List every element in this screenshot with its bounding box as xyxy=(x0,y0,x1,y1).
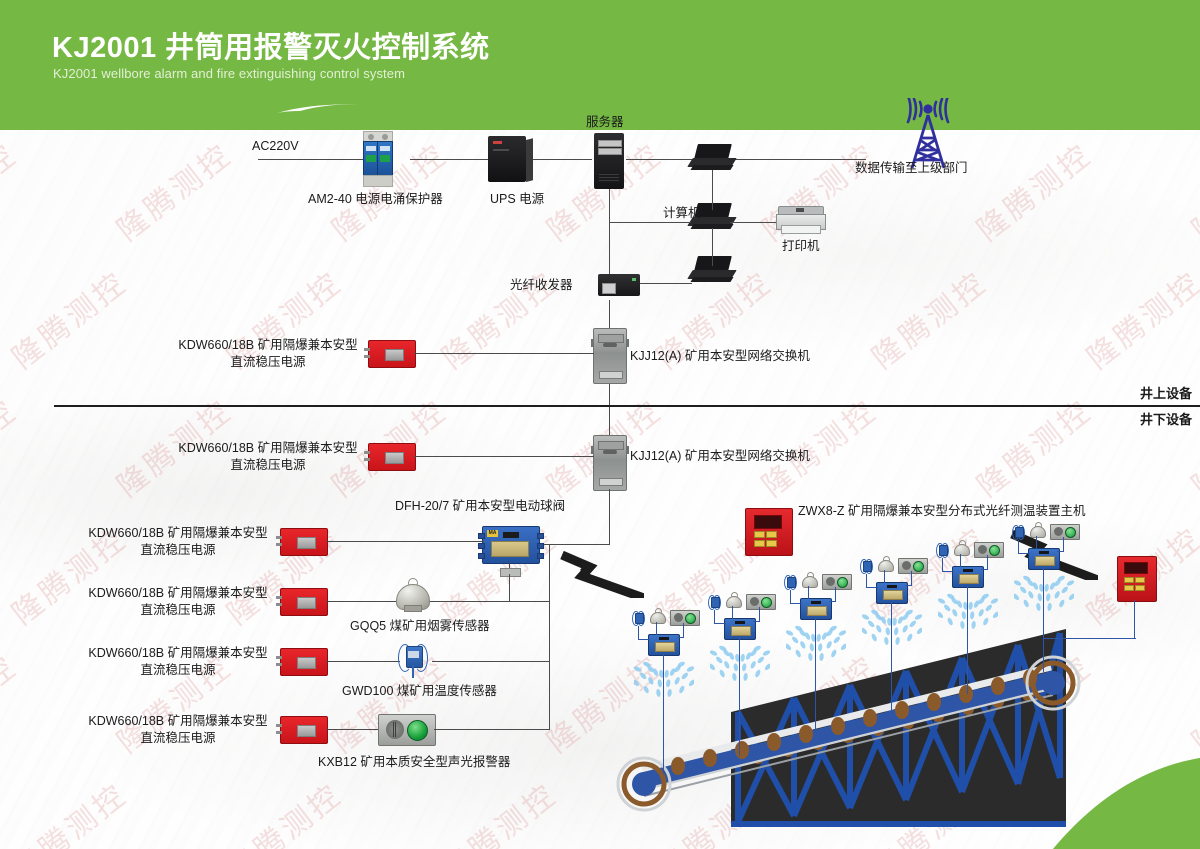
power-supply-line-2: 直流稳压电源 xyxy=(168,354,368,371)
wire-psu4-to-temp xyxy=(326,661,400,662)
power-supply-line-1: KDW660/18B 矿用隔爆兼本安型 xyxy=(76,585,280,602)
station-alarm[interactable] xyxy=(1050,524,1080,540)
label-ups: UPS 电源 xyxy=(490,191,544,208)
label-gwd100: GWD100 煤矿用温度传感器 xyxy=(342,683,497,700)
spd-foot xyxy=(363,175,393,187)
device-power-supply-1[interactable] xyxy=(368,443,416,471)
power-supply-line-1: KDW660/18B 矿用隔爆兼本安型 xyxy=(76,525,280,542)
server-grill xyxy=(599,174,619,183)
temp-sensor-label-plate xyxy=(408,651,419,658)
label-zwx8z-host: ZWX8-Z 矿用隔爆兼本安型分布式光纤测温装置主机 xyxy=(798,503,1086,520)
label-switch-underground: KJJ12(A) 矿用本安型网络交换机 xyxy=(630,448,810,465)
station-supply-pipe xyxy=(891,602,892,714)
wire-server-down xyxy=(609,189,610,283)
station-wire-temp xyxy=(1018,540,1019,554)
station-alarm[interactable] xyxy=(974,542,1004,558)
computer-screen xyxy=(694,144,732,159)
page-title: KJ2001 井筒用报警灭火控制系统 xyxy=(52,24,490,66)
station-wire-temp-h xyxy=(790,603,802,604)
page-header: KJ2001 井筒用报警灭火控制系统 KJ2001 wellbore alarm… xyxy=(0,0,1200,104)
wire-converter-laptop3 xyxy=(640,283,692,284)
station-wire-smoke xyxy=(960,554,961,567)
station-wire-temp-h xyxy=(638,639,650,640)
ups-side xyxy=(526,138,533,182)
power-supply-plate xyxy=(297,725,316,737)
station-supply-pipe xyxy=(663,654,664,774)
station-valve[interactable] xyxy=(800,598,832,620)
device-conveyor-controller[interactable] xyxy=(1117,556,1157,602)
wire-psu2-to-valve xyxy=(326,541,484,542)
station-supply-pipe xyxy=(739,638,740,756)
wire-controller-down xyxy=(1134,600,1135,639)
wire-psu-to-switch-surface xyxy=(414,353,594,354)
device-server[interactable] xyxy=(594,133,624,189)
switch-label-plate xyxy=(599,478,623,486)
device-ups[interactable] xyxy=(488,136,526,182)
station-wire-smoke xyxy=(808,586,809,599)
station-wire-alarm xyxy=(1063,537,1064,551)
power-supply-plate xyxy=(297,657,316,669)
station-alarm[interactable] xyxy=(898,558,928,574)
host-display xyxy=(754,515,782,529)
station-wire-temp-h xyxy=(942,571,954,572)
station-wire-smoke xyxy=(1036,536,1037,549)
computer-base-shadow xyxy=(690,277,733,282)
station-supply-pipe xyxy=(1043,568,1044,672)
station-wire-alarm xyxy=(911,571,912,585)
wire-valve-join-bus xyxy=(509,601,550,602)
wire-laptop1-2 xyxy=(712,170,713,210)
device-power-supply-3[interactable] xyxy=(280,588,328,616)
device-fiber-converter[interactable] xyxy=(598,274,640,296)
switch-link-led xyxy=(603,343,617,347)
station-alarm[interactable] xyxy=(670,610,700,626)
switch-ear-left xyxy=(591,339,594,347)
station-wire-temp xyxy=(866,574,867,588)
switch-top-panel xyxy=(598,441,624,450)
label-dfh-valve: DFH-20/7 矿用本安型电动球阀 xyxy=(395,498,565,515)
wire-psu1-to-switch xyxy=(414,456,594,457)
valve-plate xyxy=(491,541,529,557)
wire-alarm-to-bus xyxy=(434,729,550,730)
printer-tray xyxy=(781,225,821,234)
label-am2-40: AM2-40 电源电涌保护器 xyxy=(308,191,443,208)
converter-rj45-port xyxy=(602,283,616,294)
station-valve[interactable] xyxy=(724,618,756,640)
station-wire-alarm xyxy=(835,587,836,601)
ups-slot xyxy=(493,149,509,151)
station-temp-sensor[interactable] xyxy=(784,574,797,591)
power-supply-plate xyxy=(385,349,404,361)
station-wire-temp-h xyxy=(714,623,726,624)
ma-badge: MA xyxy=(487,530,498,537)
wire-valve-down xyxy=(509,574,510,602)
smoke-sensor-base xyxy=(404,605,422,612)
label-computer: 计算机 xyxy=(663,205,701,222)
header-underline xyxy=(360,106,1200,109)
alarm-green-light xyxy=(407,720,428,741)
station-wire-temp xyxy=(942,558,943,572)
device-dfh-valve[interactable]: MA xyxy=(482,526,540,564)
label-ac220v: AC220V xyxy=(252,138,299,155)
page-subtitle: KJ2001 wellbore alarm and fire extinguis… xyxy=(53,66,405,81)
power-supply-line-2: 直流稳压电源 xyxy=(76,602,280,619)
wire-psu3-to-smoke xyxy=(326,601,396,602)
alarm-horn xyxy=(386,720,404,739)
station-wire-smoke xyxy=(732,606,733,619)
device-printer[interactable] xyxy=(776,206,824,236)
station-valve[interactable] xyxy=(952,566,984,588)
label-power-supply-5: KDW660/18B 矿用隔爆兼本安型 直流稳压电源 xyxy=(76,713,280,747)
station-alarm[interactable] xyxy=(822,574,852,590)
label-switch-surface: KJJ12(A) 矿用本安型网络交换机 xyxy=(630,348,810,365)
station-wire-alarm xyxy=(683,623,684,637)
station-wire-smoke xyxy=(884,570,885,583)
wire-top-bus xyxy=(626,159,866,160)
station-temp-sensor[interactable] xyxy=(1012,524,1025,541)
wire-switch-down xyxy=(609,489,610,545)
server-bay-1 xyxy=(598,140,622,147)
arrow-pointer-icon-valve xyxy=(560,548,644,598)
label-power-supply-surface: KDW660/18B 矿用隔爆兼本安型 直流稳压电源 xyxy=(168,337,368,371)
switch-top-panel xyxy=(598,334,624,343)
device-zwx8z-host[interactable] xyxy=(745,508,793,556)
station-wire-alarm xyxy=(759,607,760,621)
power-supply-plate xyxy=(297,537,316,549)
station-wire-alarm-h xyxy=(753,621,760,622)
temp-sensor-cable xyxy=(412,665,414,678)
device-gwd100-temp-sensor[interactable] xyxy=(396,640,430,680)
wire-bus-laptop2 xyxy=(609,222,691,223)
wire-ac-to-spd xyxy=(258,159,376,160)
station-wire-temp xyxy=(790,590,791,604)
station-wire-alarm-h xyxy=(905,585,912,586)
power-supply-line-2: 直流稳压电源 xyxy=(76,730,280,747)
station-wire-alarm-h xyxy=(829,601,836,602)
label-uplink: 数据传输至上级部门 xyxy=(855,160,968,177)
power-supply-line-1: KDW660/18B 矿用隔爆兼本安型 xyxy=(76,645,280,662)
station-valve[interactable] xyxy=(876,582,908,604)
spd-module-2 xyxy=(377,141,393,179)
label-below-ground: 井下设备 xyxy=(1060,411,1192,428)
switch-label-plate xyxy=(599,371,623,379)
device-switch-underground[interactable] xyxy=(593,435,627,491)
switch-ear-right xyxy=(626,446,629,454)
station-temp-sensor[interactable] xyxy=(860,558,873,575)
valve-flange xyxy=(500,568,521,577)
wire-laptop2-3 xyxy=(712,228,713,266)
wire-spd-to-ups xyxy=(410,159,490,160)
station-temp-sensor[interactable] xyxy=(632,610,645,627)
station-wire-temp-h xyxy=(1018,553,1030,554)
controller-display xyxy=(1124,562,1148,574)
wire-bus-up xyxy=(549,545,550,577)
label-power-supply-1: KDW660/18B 矿用隔爆兼本安型 直流稳压电源 xyxy=(168,440,368,474)
wire-controller-to-pulley xyxy=(1060,638,1136,639)
device-power-supply-surface[interactable] xyxy=(368,340,416,368)
switch-ear-right xyxy=(626,339,629,347)
device-switch-surface[interactable] xyxy=(593,328,627,384)
printer-controls xyxy=(796,208,804,212)
station-supply-pipe xyxy=(815,618,816,734)
switch-ear-left xyxy=(591,446,594,454)
ups-led xyxy=(493,141,502,144)
station-wire-temp xyxy=(714,610,715,624)
power-supply-line-2: 直流稳压电源 xyxy=(168,457,368,474)
wire-psu5-to-alarm xyxy=(326,729,380,730)
valve-display xyxy=(503,532,519,538)
station-wire-alarm xyxy=(987,555,988,569)
station-wire-alarm-h xyxy=(981,569,988,570)
station-supply-pipe xyxy=(967,586,968,694)
power-supply-line-2: 直流稳压电源 xyxy=(76,542,280,559)
switch-link-led xyxy=(603,450,617,454)
power-supply-line-1: KDW660/18B 矿用隔爆兼本安型 xyxy=(76,713,280,730)
device-kxb12-alarm[interactable] xyxy=(378,714,436,746)
wire-temp-to-bus xyxy=(432,661,550,662)
station-wire-smoke xyxy=(656,622,657,635)
station-alarm[interactable] xyxy=(746,594,776,610)
station-valve[interactable] xyxy=(1028,548,1060,570)
station-temp-sensor[interactable] xyxy=(708,594,721,611)
device-am2-40-spd[interactable] xyxy=(360,131,394,187)
diagram-canvas: 隆腾测控隆腾测控隆腾测控隆腾测控隆腾测控隆腾测控隆腾测控隆腾测控隆腾测控隆腾测控… xyxy=(0,0,1200,849)
device-power-supply-4[interactable] xyxy=(280,648,328,676)
station-wire-temp-h xyxy=(866,587,878,588)
server-bay-2 xyxy=(598,148,622,155)
label-fiber-converter: 光纤收发器 xyxy=(510,277,573,294)
label-gqq5: GQQ5 煤矿用烟雾传感器 xyxy=(350,618,490,635)
wire-sensor-bus-vertical xyxy=(549,575,550,730)
wire-ups-to-server xyxy=(530,159,592,160)
power-supply-line-1: KDW660/18B 矿用隔爆兼本安型 xyxy=(168,337,368,354)
device-power-supply-5[interactable] xyxy=(280,716,328,744)
station-wire-alarm-h xyxy=(1057,551,1064,552)
station-valve[interactable] xyxy=(648,634,680,656)
wire-laptop2-printer xyxy=(730,222,778,223)
station-wire-temp xyxy=(638,626,639,640)
power-supply-plate xyxy=(385,452,404,464)
station-wire-alarm-h xyxy=(677,637,684,638)
label-above-ground: 井上设备 xyxy=(1060,385,1192,402)
converter-led xyxy=(632,278,636,281)
power-supply-line-1: KDW660/18B 矿用隔爆兼本安型 xyxy=(168,440,368,457)
device-power-supply-2[interactable] xyxy=(280,528,328,556)
label-power-supply-3: KDW660/18B 矿用隔爆兼本安型 直流稳压电源 xyxy=(76,585,280,619)
device-gqq5-smoke-sensor[interactable] xyxy=(392,578,432,612)
label-power-supply-2: KDW660/18B 矿用隔爆兼本安型 直流稳压电源 xyxy=(76,525,280,559)
power-supply-line-2: 直流稳压电源 xyxy=(76,662,280,679)
label-printer: 打印机 xyxy=(782,238,820,255)
station-temp-sensor[interactable] xyxy=(936,542,949,559)
label-power-supply-4: KDW660/18B 矿用隔爆兼本安型 直流稳压电源 xyxy=(76,645,280,679)
label-server: 服务器 xyxy=(586,114,624,131)
power-supply-plate xyxy=(297,597,316,609)
divider-line xyxy=(54,405,1200,407)
label-kxb12: KXB12 矿用本质安全型声光报警器 xyxy=(318,754,510,771)
